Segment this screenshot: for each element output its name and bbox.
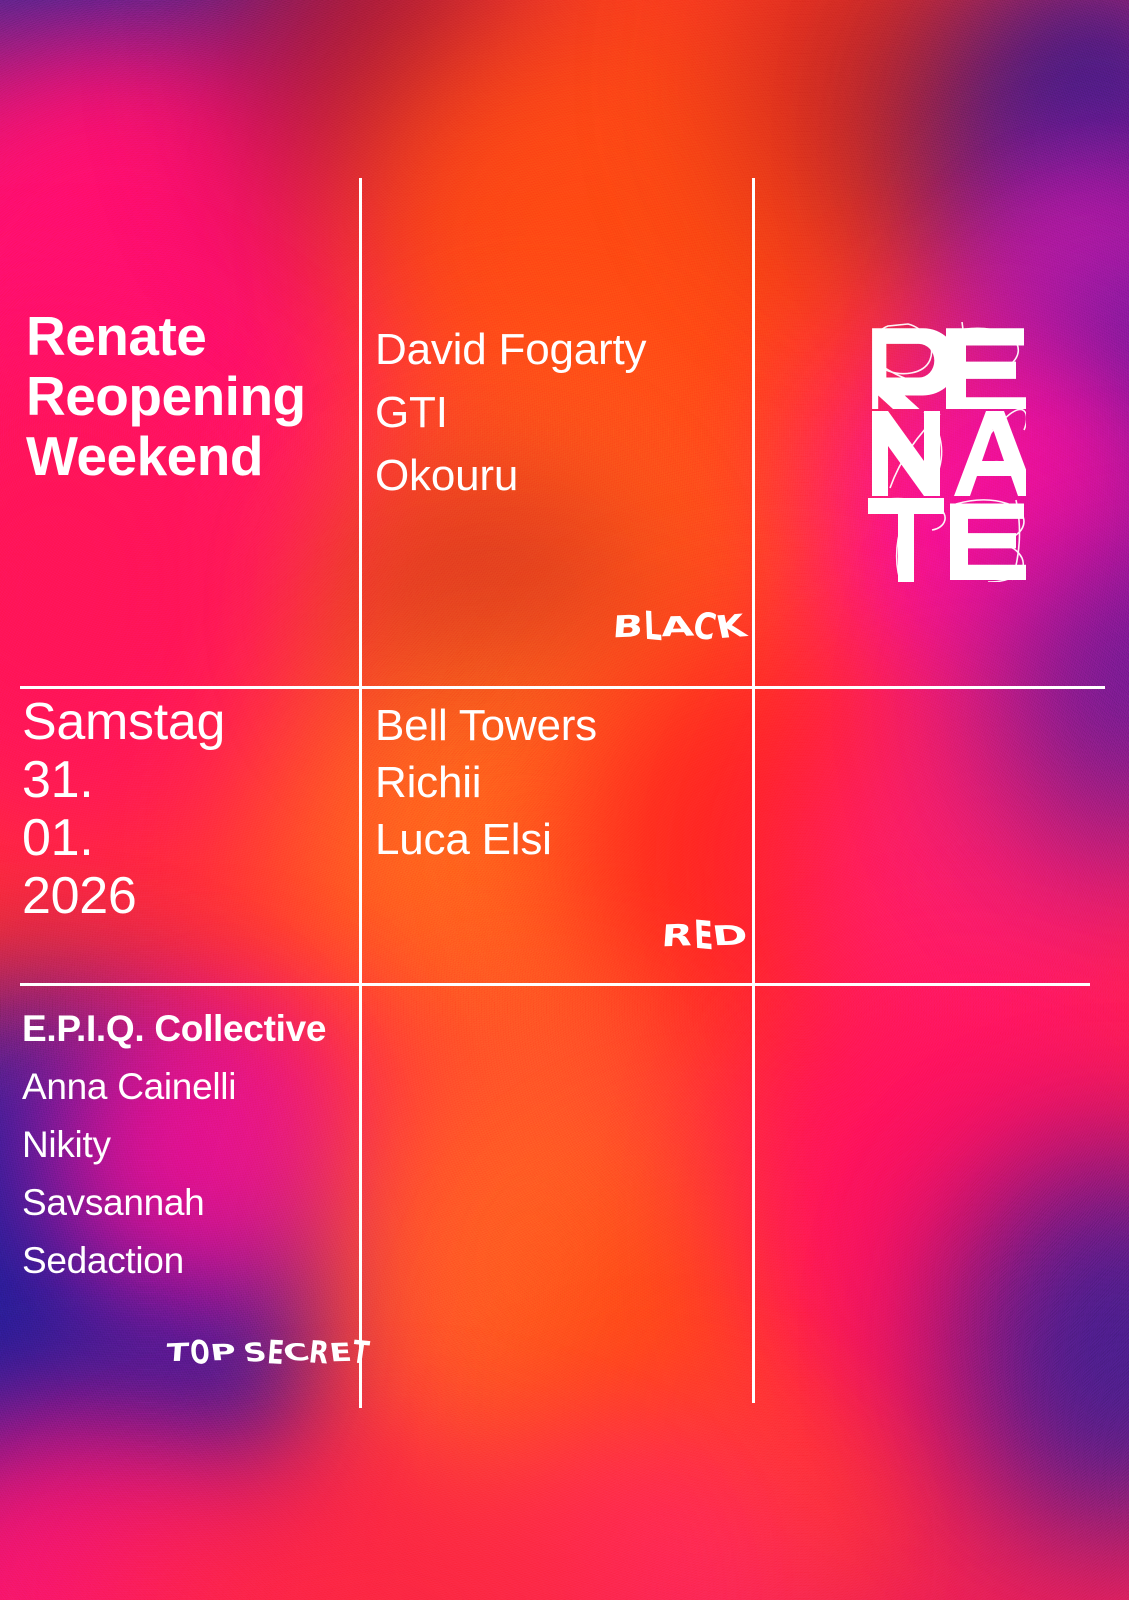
floor-label-black: BLACK bbox=[615, 612, 745, 643]
lineup-black-room: David Fogarty GTI Okouru bbox=[375, 318, 646, 507]
renate-logo bbox=[866, 322, 1026, 582]
artist-name: Luca Elsi bbox=[375, 811, 597, 868]
page-title: Renate Reopening Weekend bbox=[26, 306, 306, 486]
artist-name: Okouru bbox=[375, 444, 646, 507]
event-poster: Renate Reopening Weekend David Fogarty G… bbox=[0, 0, 1129, 1600]
artist-name: Sedaction bbox=[22, 1232, 326, 1290]
collective-name: E.P.I.Q. Collective bbox=[22, 1000, 326, 1058]
event-date: Samstag 31. 01. 2026 bbox=[22, 693, 225, 925]
artist-name: Richii bbox=[375, 754, 597, 811]
event-day: 31. bbox=[22, 751, 225, 809]
page-title-line-2: Reopening bbox=[26, 366, 306, 426]
page-title-line-3: Weekend bbox=[26, 426, 306, 486]
artist-name: Savsannah bbox=[22, 1174, 326, 1232]
artist-name: David Fogarty bbox=[375, 318, 646, 381]
renate-logo-mark bbox=[866, 322, 1026, 582]
floor-label-top-secret: TOPSECRET bbox=[168, 1340, 371, 1365]
event-month: 01. bbox=[22, 809, 225, 867]
artist-name: Nikity bbox=[22, 1116, 326, 1174]
lineup-red-room: Bell Towers Richii Luca Elsi bbox=[375, 697, 597, 868]
page-title-line-1: Renate bbox=[26, 306, 306, 366]
artist-name: Bell Towers bbox=[375, 697, 597, 754]
artist-name: Anna Cainelli bbox=[22, 1058, 326, 1116]
artist-name: GTI bbox=[375, 381, 646, 444]
floor-label-red: RED bbox=[664, 921, 745, 952]
event-weekday: Samstag bbox=[22, 693, 225, 751]
lineup-top-secret-room: E.P.I.Q. Collective Anna Cainelli Nikity… bbox=[22, 1000, 326, 1290]
event-year: 2026 bbox=[22, 867, 225, 925]
